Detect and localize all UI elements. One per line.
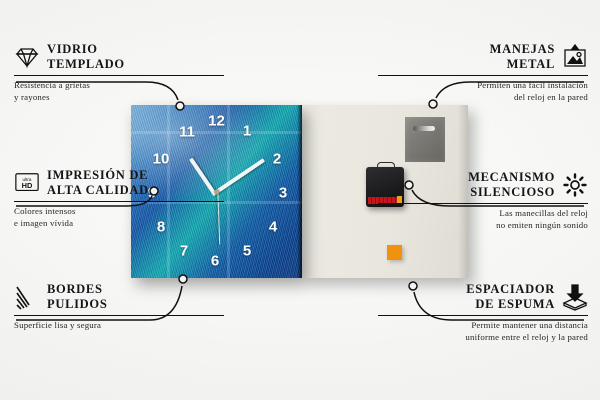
callout-rule — [378, 75, 588, 77]
clock-numeral-7: 7 — [180, 243, 188, 260]
callout-sub-line1: Resistencia a grietas — [14, 80, 224, 92]
callout-espaciador-de-espuma: ESPACIADOR DE ESPUMA Permite mantener un… — [378, 282, 588, 344]
callout-title-line2: DE ESPUMA — [466, 297, 555, 312]
callout-sub-line1: Permite mantener una distancia — [378, 320, 588, 332]
callout-impresion-alta-calidad: ultra HD IMPRESIÓN DE ALTA CALIDAD Color… — [14, 168, 224, 230]
diagonal-lines-icon — [14, 284, 40, 310]
callout-title-line1: MECANISMO — [468, 170, 555, 185]
callout-title-line1: BORDES — [47, 282, 107, 297]
clock-numeral-6: 6 — [211, 253, 219, 270]
callout-sub-line2: del reloj en la pared — [378, 92, 588, 104]
gear-icon — [562, 172, 588, 198]
diamond-icon — [14, 44, 40, 70]
callout-title-line2: SILENCIOSO — [468, 185, 555, 200]
callout-bordes-pulidos: BORDES PULIDOS Superficie lisa y segura — [14, 282, 224, 332]
callout-title-line1: VIDRIO — [47, 42, 125, 57]
callout-manejas-metal: MANEJAS METAL Permiten una fácil instala… — [378, 42, 588, 104]
callout-mecanismo-silencioso: MECANISMO SILENCIOSO Las manecillas del … — [378, 170, 588, 232]
callout-sub-line1: Permiten una fácil instalación — [378, 80, 588, 92]
clock-numeral-2: 2 — [273, 151, 281, 168]
callout-rule — [378, 315, 588, 317]
clock-numeral-5: 5 — [243, 243, 251, 260]
callout-rule — [378, 203, 588, 205]
callout-sub-line2: uniforme entre el reloj y la pared — [378, 332, 588, 344]
callout-sub-line1: Superficie lisa y segura — [14, 320, 224, 332]
callout-title-line1: MANEJAS — [490, 42, 555, 57]
clock-numeral-3: 3 — [279, 185, 287, 202]
callout-rule — [14, 75, 224, 77]
clock-numeral-4: 4 — [269, 219, 277, 236]
callout-title-line1: ESPACIADOR — [466, 282, 555, 297]
orange-foam-spacer — [387, 245, 402, 260]
clock-numeral-12: 12 — [208, 113, 225, 130]
callout-rule — [14, 315, 224, 317]
picture-frame-icon — [562, 44, 588, 70]
callout-sub-line1: Las manecillas del reloj — [378, 208, 588, 220]
callout-rule — [14, 201, 224, 203]
product-infographic: 12 1 2 3 4 5 6 7 8 9 10 11 — [0, 0, 600, 400]
clock-numeral-11: 11 — [179, 124, 195, 141]
callout-sub-line2: e imagen vívida — [14, 218, 224, 230]
callout-sub-line1: Colores intensos — [14, 206, 224, 218]
callout-vidrio-templado: VIDRIO TEMPLADO Resistencia a grietas y … — [14, 42, 224, 104]
callout-sub-line2: y rayones — [14, 92, 224, 104]
clock-numeral-10: 10 — [153, 151, 170, 168]
callout-sub-line2: no emiten ningún sonido — [378, 220, 588, 232]
metal-hanger-plate — [405, 117, 445, 162]
press-down-icon — [562, 284, 588, 310]
svg-text:HD: HD — [22, 181, 33, 190]
callout-title-line1: IMPRESIÓN DE — [47, 168, 149, 183]
callout-title-line2: TEMPLADO — [47, 57, 125, 72]
callout-title-line2: PULIDOS — [47, 297, 107, 312]
clock-numeral-1: 1 — [243, 123, 251, 140]
callout-title-line2: METAL — [490, 57, 555, 72]
callout-title-line2: ALTA CALIDAD — [47, 183, 149, 198]
ultra-hd-icon: ultra HD — [14, 170, 40, 196]
